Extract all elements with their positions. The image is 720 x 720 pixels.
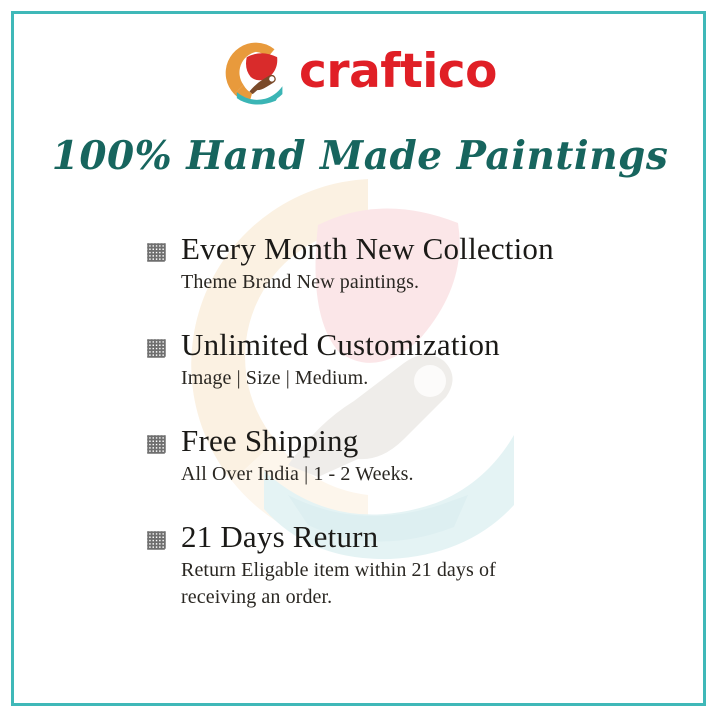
page-title: 100% Hand Made Paintings — [0, 133, 720, 179]
feature-subtitle: Return Eligable item within 21 days of r… — [181, 557, 536, 611]
list-item: Unlimited Customization Image | Size | M… — [145, 328, 665, 392]
feature-title: Free Shipping — [181, 424, 665, 458]
list-item: Every Month New Collection Theme Brand N… — [145, 232, 665, 296]
feature-title: Every Month New Collection — [181, 232, 665, 266]
feature-title: 21 Days Return — [181, 520, 665, 554]
feature-subtitle: Image | Size | Medium. — [181, 365, 665, 392]
list-item: 21 Days Return Return Eligable item with… — [145, 520, 665, 611]
list-item: Free Shipping All Over India | 1 - 2 Wee… — [145, 424, 665, 488]
brand-wordmark: craftico — [299, 48, 497, 99]
feature-subtitle: All Over India | 1 - 2 Weeks. — [181, 461, 665, 488]
brand-logo-lockup: craftico — [0, 36, 720, 110]
feature-list: Every Month New Collection Theme Brand N… — [145, 232, 665, 611]
promo-poster: craftico 100% Hand Made Paintings Every … — [0, 0, 720, 720]
craftico-c-paintbrush-icon — [223, 40, 289, 106]
mesh-grid-bullet-icon — [145, 433, 167, 455]
feature-subtitle: Theme Brand New paintings. — [181, 269, 665, 296]
mesh-grid-bullet-icon — [145, 529, 167, 551]
mesh-grid-bullet-icon — [145, 241, 167, 263]
mesh-grid-bullet-icon — [145, 337, 167, 359]
feature-title: Unlimited Customization — [181, 328, 665, 362]
